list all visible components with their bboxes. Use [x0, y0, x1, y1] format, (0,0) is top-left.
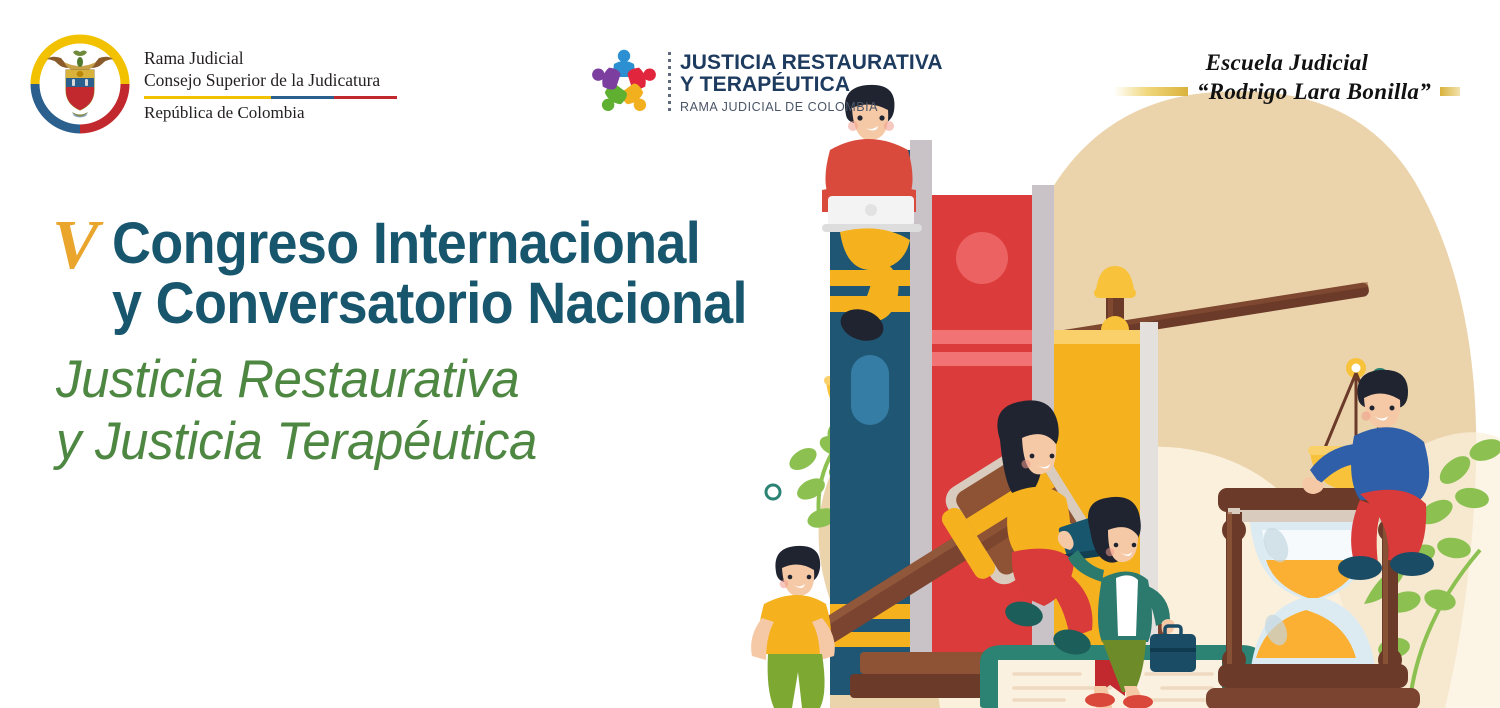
escuela-judicial-line2: “Rodrigo Lara Bonilla” — [1197, 79, 1431, 105]
tricolor-divider — [144, 96, 397, 99]
escuela-judicial-logo: Escuela Judicial “Rodrigo Lara Bonilla” — [1114, 50, 1460, 105]
title-block: V Congreso Internacional y Conversatorio… — [52, 214, 794, 473]
rama-judicial-text: Rama Judicial Consejo Superior de la Jud… — [144, 44, 397, 123]
event-banner: Rama Judicial Consejo Superior de la Jud… — [0, 0, 1500, 708]
jr-line1: JUSTICIA RESTAURATIVA — [680, 52, 943, 74]
page-subtitle: Justicia Restaurativa y Justicia Terapéu… — [56, 349, 765, 473]
subtitle-line1: Justicia Restaurativa — [56, 349, 765, 411]
title-line1: Congreso Internacional — [112, 211, 700, 276]
escuela-judicial-line1: Escuela Judicial — [1114, 50, 1460, 77]
gold-bar-right — [1440, 87, 1460, 96]
dotted-divider — [668, 52, 671, 114]
rama-judicial-line3: República de Colombia — [144, 102, 397, 124]
jr-line3: RAMA JUDICIAL DE COLOMBIA — [680, 100, 943, 114]
five-people-circle-icon — [586, 45, 662, 121]
rama-judicial-logo: Rama Judicial Consejo Superior de la Jud… — [28, 32, 397, 136]
title-main-row: V Congreso Internacional y Conversatorio… — [52, 214, 794, 333]
escuela-judicial-row: “Rodrigo Lara Bonilla” — [1114, 79, 1460, 105]
page-title: Congreso Internacional y Conversatorio N… — [112, 214, 747, 333]
title-line2: y Conversatorio Nacional — [112, 274, 747, 334]
rama-judicial-line2: Consejo Superior de la Judicatura — [144, 70, 397, 92]
rama-judicial-line1: Rama Judicial — [144, 48, 397, 70]
gold-bar-left — [1114, 87, 1188, 96]
roman-numeral-v: V — [52, 214, 99, 278]
banner-header: Rama Judicial Consejo Superior de la Jud… — [0, 0, 1500, 155]
jr-line2: Y TERAPÉUTICA — [680, 74, 943, 96]
justicia-restaurativa-text: JUSTICIA RESTAURATIVA Y TERAPÉUTICA RAMA… — [680, 52, 943, 115]
justicia-restaurativa-logo: JUSTICIA RESTAURATIVA Y TERAPÉUTICA RAMA… — [586, 45, 943, 121]
colombia-coat-of-arms-seal-icon — [28, 32, 132, 136]
subtitle-line2: y Justicia Terapéutica — [56, 411, 765, 473]
